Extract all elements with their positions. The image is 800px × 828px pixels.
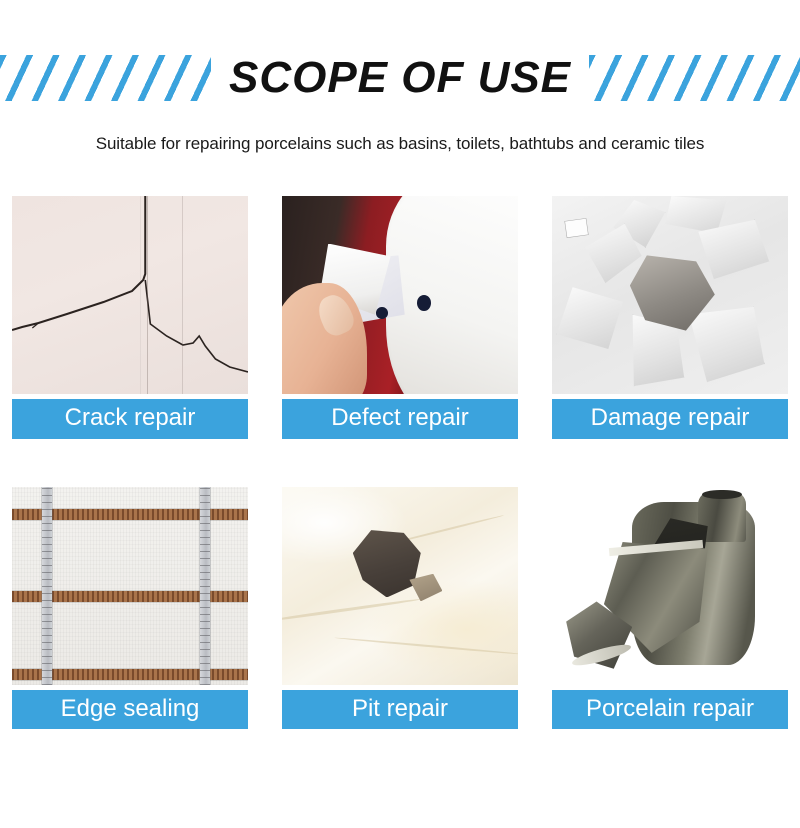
use-case-card-porcelain-repair[interactable]: Porcelain repair [552,487,788,730]
page-subtitle: Suitable for repairing porcelains such a… [0,134,800,154]
use-case-label: Edge sealing [12,690,248,730]
use-case-card-damage-repair[interactable]: Damage repair [552,196,788,439]
use-case-label: Crack repair [12,399,248,439]
crack-repair-image [12,196,248,394]
stripe-decoration-right [589,55,800,101]
use-case-label: Damage repair [552,399,788,439]
use-case-grid: Crack repair Defect repair [12,196,788,729]
use-case-label: Porcelain repair [552,690,788,730]
porcelain-repair-image [552,487,788,685]
defect-repair-image [282,196,518,394]
crack-lines-icon [12,196,248,394]
edge-sealing-image [12,487,248,685]
page-title: SCOPE OF USE [225,56,575,100]
use-case-label: Defect repair [282,399,518,439]
use-case-card-crack-repair[interactable]: Crack repair [12,196,248,439]
use-case-card-edge-sealing[interactable]: Edge sealing [12,487,248,730]
use-case-card-defect-repair[interactable]: Defect repair [282,196,518,439]
pit-repair-image [282,487,518,685]
damage-repair-image [552,196,788,394]
use-case-label: Pit repair [282,690,518,730]
use-case-card-pit-repair[interactable]: Pit repair [282,487,518,730]
stripe-decoration-left [0,55,211,101]
page-header: SCOPE OF USE [0,28,800,128]
